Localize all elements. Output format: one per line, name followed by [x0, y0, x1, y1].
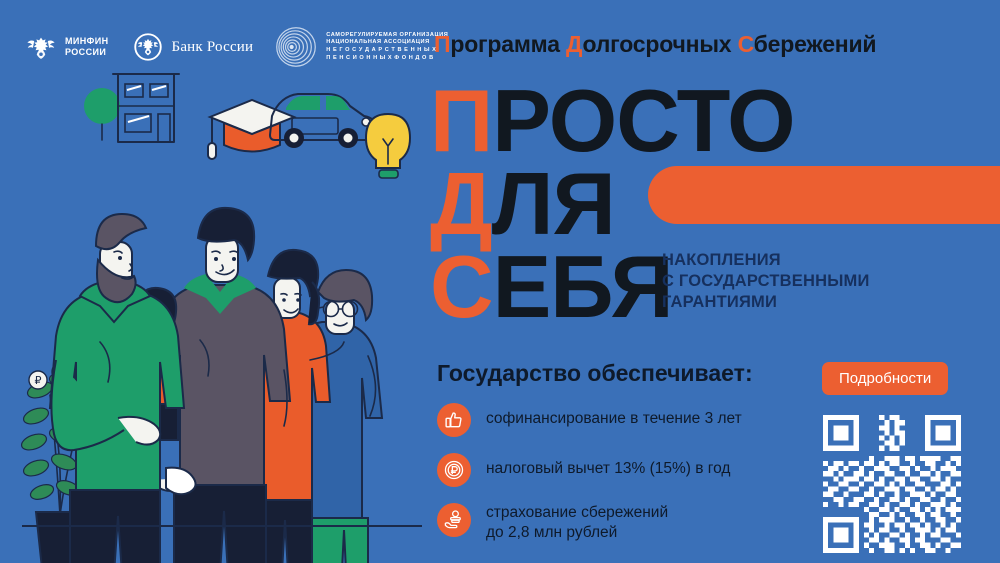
benefit-text: софинансирование в течение 3 лет — [486, 403, 742, 429]
benefit-item: налоговый вычет 13% (15%) в год — [437, 453, 807, 487]
kicker-part-0: П — [434, 31, 450, 57]
logo-minfin-line2: РОССИИ — [65, 47, 109, 58]
svg-text:₽: ₽ — [35, 375, 42, 387]
thumbs-up-icon — [437, 403, 471, 437]
kicker-part-2: Д — [566, 31, 582, 57]
kicker-part-3: олгосрочных — [582, 31, 737, 57]
house-with-tree-icon — [84, 74, 179, 142]
subnote-line-2: С ГОСУДАРСТВЕННЫМИ — [662, 271, 870, 292]
logo-minfin: МИНФИН РОССИИ — [24, 30, 109, 64]
subnote: НАКОПЛЕНИЯ С ГОСУДАРСТВЕННЫМИ ГАРАНТИЯМИ — [662, 250, 870, 313]
logo-minfin-line1: МИНФИН — [65, 36, 109, 47]
graduation-cap-icon — [208, 100, 294, 159]
bank-of-russia-eagle-icon — [131, 30, 165, 64]
qr-code[interactable] — [818, 410, 966, 558]
benefits-list: софинансирование в течение 3 лет налогов… — [437, 403, 807, 559]
ground-line-dash — [404, 525, 420, 527]
benefit-text: налоговый вычет 13% (15%) в год — [486, 453, 730, 479]
benefit-item: страхование сбережений до 2,8 млн рублей — [437, 503, 807, 543]
benefit-text: страхование сбережений до 2,8 млн рублей — [486, 503, 668, 543]
kicker-part-4: С — [738, 31, 754, 57]
double-headed-eagle-icon — [24, 30, 58, 64]
family-illustration: .ln{stroke:#1B2A49;stroke-width:2;fill:n… — [0, 60, 430, 563]
headline-line-2: ДЛЯ — [430, 160, 615, 248]
sro-line-1: САМОРЕГУЛИРУЕМАЯ ОРГАНИЗАЦИЯ — [326, 32, 448, 40]
details-button[interactable]: Подробности — [822, 362, 948, 395]
headline-3-highlight: С — [430, 237, 493, 336]
ground-line — [22, 525, 422, 527]
subnote-line-1: НАКОПЛЕНИЯ — [662, 250, 870, 271]
logo-bank-rossii-label: Банк России — [172, 40, 254, 55]
sro-line-2: НАЦИОНАЛЬНАЯ АССОЦИАЦИЯ — [326, 39, 448, 47]
benefit-text-line-2: до 2,8 млн рублей — [486, 523, 668, 543]
logo-sro-napf-text: САМОРЕГУЛИРУЕМАЯ ОРГАНИЗАЦИЯ НАЦИОНАЛЬНА… — [326, 32, 448, 62]
logo-bank-rossii: Банк России — [131, 30, 254, 64]
program-kicker: Программа Долгосрочных Сбережений — [434, 31, 876, 58]
poster: МИНФИН РОССИИ Банк России — [0, 0, 1000, 563]
kicker-part-1: рограмма — [450, 31, 566, 57]
bearded-man — [50, 214, 184, 563]
headline-line-3: СЕБЯ — [430, 243, 673, 331]
benefit-item: софинансирование в течение 3 лет — [437, 403, 807, 437]
headline-3-rest: ЕБЯ — [493, 237, 673, 336]
logo-minfin-text: МИНФИН РОССИИ — [65, 36, 109, 58]
hand-with-coins-icon — [437, 503, 471, 537]
benefits-title: Государство обеспечивает: — [437, 360, 753, 387]
lightbulb-icon — [366, 114, 410, 178]
ruble-coin-icon — [437, 453, 471, 487]
headline-line-1: ПРОСТО — [430, 77, 795, 165]
kicker-part-5: бережений — [754, 31, 877, 57]
benefit-text-line-1: страхование сбережений — [486, 503, 668, 523]
orange-accent-bar — [648, 166, 1000, 224]
subnote-line-3: ГАРАНТИЯМИ — [662, 292, 870, 313]
sro-line-3: Н Е Г О С У Д А Р С Т В Е Н Н Ы Х — [326, 47, 448, 55]
